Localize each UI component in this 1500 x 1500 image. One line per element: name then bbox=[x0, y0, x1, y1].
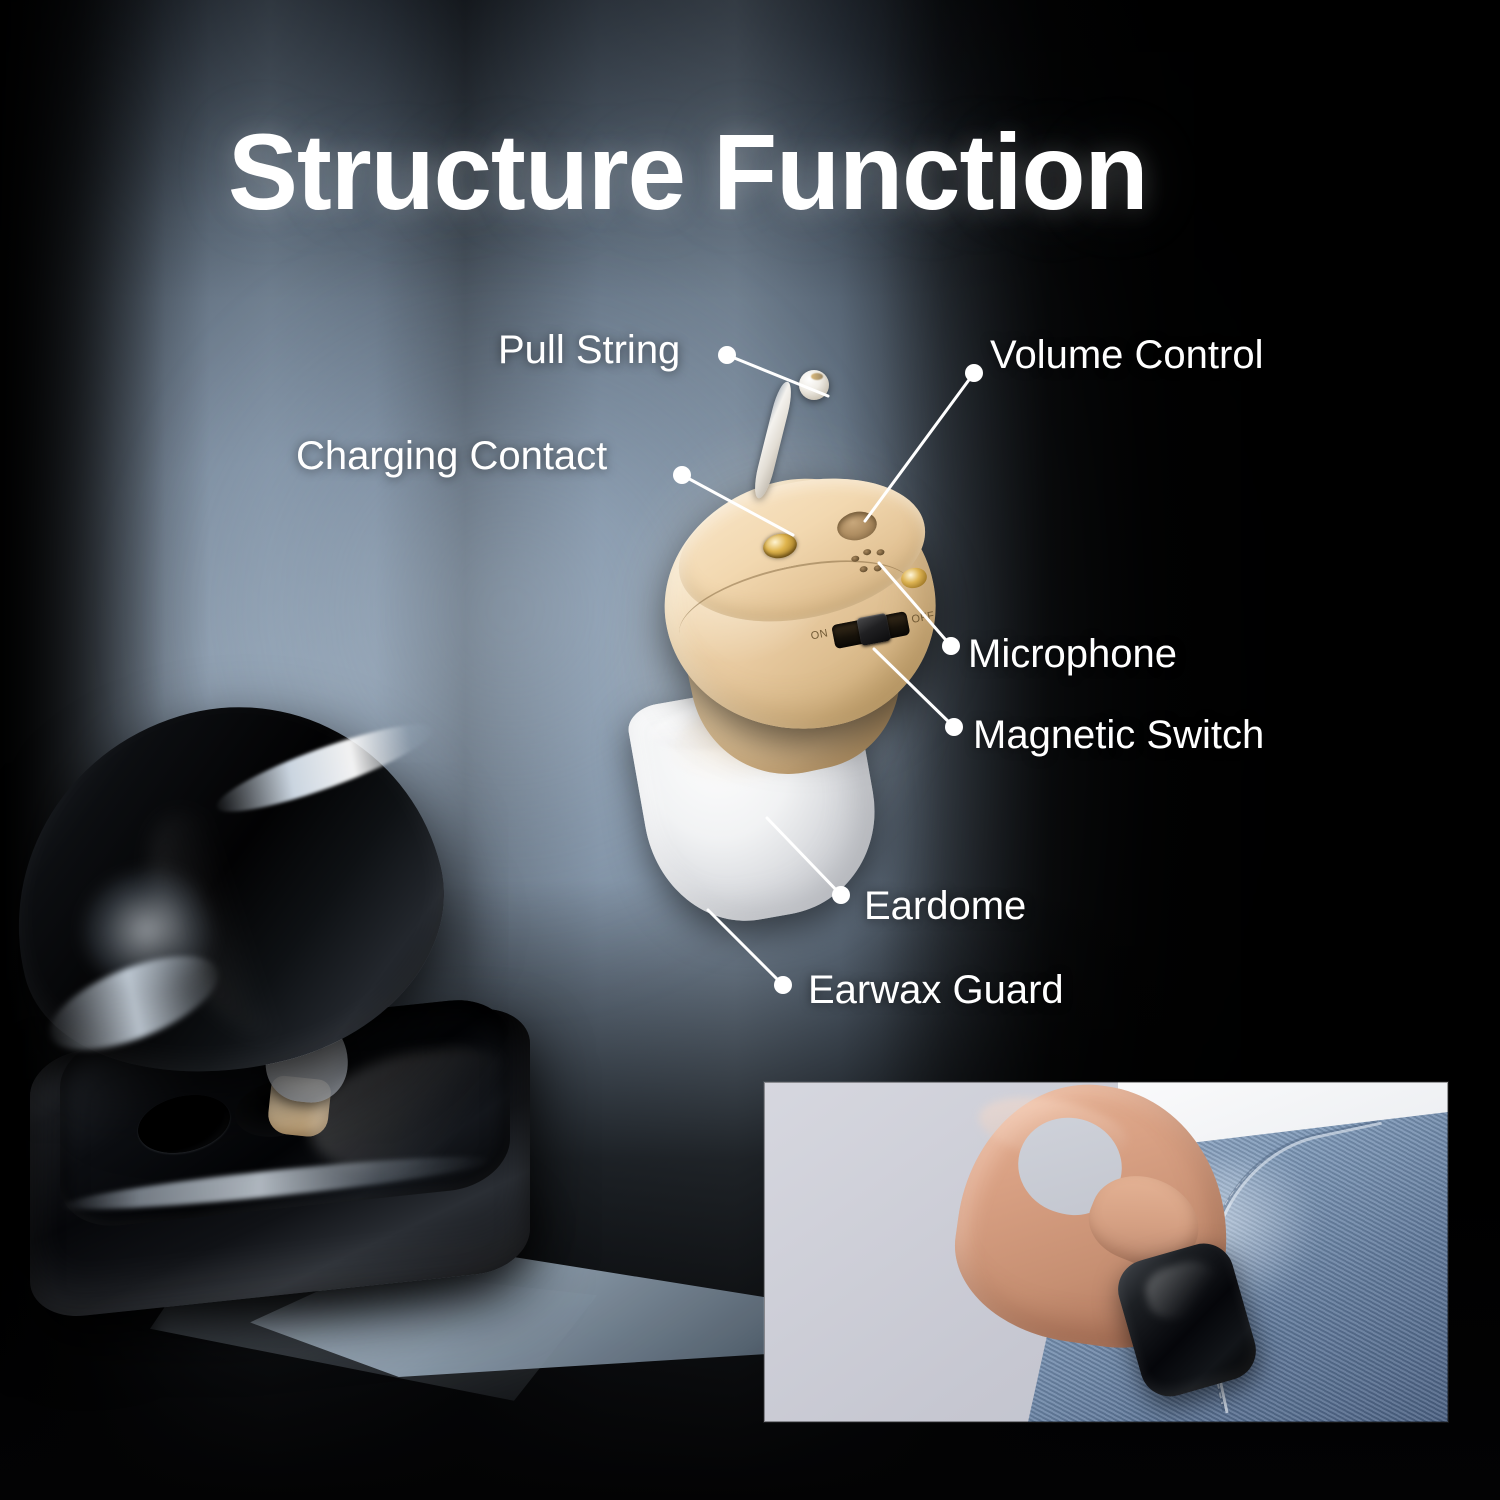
callout-label-microphone: Microphone bbox=[968, 632, 1177, 677]
callout-label-magnetic-switch: Magnetic Switch bbox=[973, 713, 1264, 758]
microphone-hole bbox=[863, 548, 872, 556]
magnetic-switch-knob[interactable] bbox=[856, 613, 891, 646]
hearing-aid-diagram: ON OFF bbox=[615, 370, 975, 960]
lifestyle-inset-photo bbox=[764, 1082, 1448, 1422]
callout-label-earwax-guard: Earwax Guard bbox=[808, 968, 1064, 1013]
pull-string-glint bbox=[811, 373, 823, 380]
callout-label-charging-contact: Charging Contact bbox=[296, 434, 607, 479]
microphone-hole bbox=[859, 565, 868, 573]
microphone-hole bbox=[873, 565, 882, 573]
infographic-root: Structure Function bbox=[0, 0, 1500, 1500]
inset-border bbox=[764, 1082, 1448, 1422]
callout-label-eardome: Eardome bbox=[864, 884, 1026, 929]
page-title: Structure Function bbox=[228, 118, 1148, 226]
callout-label-pull-string: Pull String bbox=[498, 328, 680, 373]
microphone-hole bbox=[851, 555, 860, 563]
callout-label-volume-control: Volume Control bbox=[990, 333, 1263, 378]
microphone-hole bbox=[876, 549, 885, 557]
charging-case bbox=[10, 700, 590, 1320]
